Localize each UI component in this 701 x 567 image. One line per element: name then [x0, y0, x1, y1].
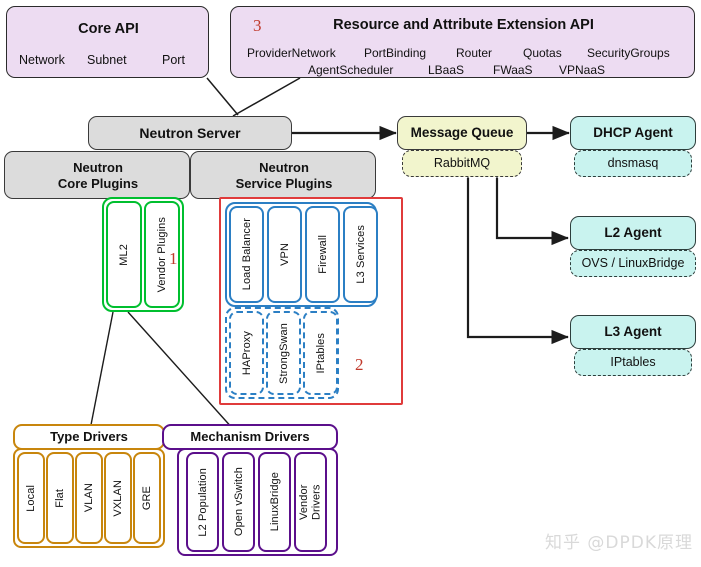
mechanism-driver-cell-l2-population: L2 Population	[186, 452, 219, 552]
type-drivers-header: Type Drivers	[13, 424, 165, 450]
plugin-label-vendor-plugins: Vendor Plugins	[156, 217, 168, 292]
service-cell-load-balancer: Load Balancer	[229, 206, 264, 303]
type-driver-cell-vxlan: VXLAN	[104, 452, 132, 544]
l2-agent-box: L2 Agent	[570, 216, 696, 250]
extension-item-lbaas: LBaaS	[428, 64, 464, 78]
core-api-title: Core API	[7, 21, 210, 38]
type-driver-cell-gre: GRE	[133, 452, 161, 544]
mechanism-drivers-title: Mechanism Drivers	[190, 430, 309, 445]
core-api-box: Core API Network Subnet Port	[6, 6, 209, 78]
core-plugins-badge: 1	[169, 249, 178, 269]
service-plugins-title-line2: Service Plugins	[236, 176, 333, 191]
service-label-firewall: Firewall	[317, 235, 329, 274]
core-api-resource-network: Network	[19, 53, 65, 67]
service-plugins-badge: 2	[355, 355, 364, 375]
service-plugins-title: Neutron Service Plugins	[191, 160, 377, 193]
extension-item-securitygroups: SecurityGroups	[587, 47, 670, 61]
neutron-server-box: Neutron Server	[88, 116, 292, 150]
type-driver-cell-vlan: VLAN	[75, 452, 103, 544]
core-plugins-title-line2: Core Plugins	[58, 176, 138, 191]
watermark: 知乎 @DPDK原理	[545, 528, 693, 553]
mechanism-driver-label-open-vswitch: Open vSwitch	[233, 467, 245, 536]
l2-agent-impl-box: OVS / LinuxBridge	[570, 250, 696, 277]
backend-cell-haproxy: HAProxy	[229, 311, 264, 395]
service-cell-firewall: Firewall	[305, 206, 340, 303]
type-driver-label-vxlan: VXLAN	[112, 480, 124, 517]
backend-label-iptables: IPtables	[315, 333, 327, 374]
type-driver-cell-flat: Flat	[46, 452, 74, 544]
service-label-load-balancer: Load Balancer	[241, 218, 253, 290]
l2-agent-title: L2 Agent	[604, 225, 661, 241]
type-driver-cell-local: Local	[17, 452, 45, 544]
dhcp-agent-box: DHCP Agent	[570, 116, 696, 150]
l3-agent-impl-box: IPtables	[574, 349, 692, 376]
service-plugins-title-line1: Neutron	[259, 160, 309, 175]
backend-label-haproxy: HAProxy	[241, 331, 253, 375]
backend-cell-iptables: IPtables	[303, 311, 338, 395]
extension-item-vpnaas: VPNaaS	[559, 64, 605, 78]
type-driver-label-vlan: VLAN	[83, 483, 95, 512]
mechanism-driver-cell-open-vswitch: Open vSwitch	[222, 452, 255, 552]
neutron-core-plugins-box: Neutron Core Plugins	[4, 151, 190, 199]
l2-agent-impl-label: OVS / LinuxBridge	[582, 256, 685, 270]
extension-item-fwaas: FWaaS	[493, 64, 533, 78]
message-queue-title: Message Queue	[411, 125, 514, 141]
neutron-service-plugins-box: Neutron Service Plugins	[190, 151, 376, 199]
mechanism-driver-label-linuxbridge: LinuxBridge	[269, 472, 281, 531]
message-queue-impl-label: RabbitMQ	[434, 156, 490, 170]
mechanism-drivers-header: Mechanism Drivers	[162, 424, 338, 450]
service-cell-vpn: VPN	[267, 206, 302, 303]
message-queue-box: Message Queue	[397, 116, 527, 150]
l3-agent-title: L3 Agent	[604, 324, 661, 340]
core-plugins-title: Neutron Core Plugins	[5, 160, 191, 193]
backend-label-strongswan: StrongSwan	[278, 323, 290, 384]
type-drivers-title: Type Drivers	[50, 430, 128, 445]
plugin-label-ml2: ML2	[118, 244, 130, 266]
dhcp-agent-title: DHCP Agent	[593, 125, 673, 141]
service-label-vpn: VPN	[279, 243, 291, 266]
diagram-canvas: Core API Network Subnet Port 3 Resource …	[0, 0, 701, 567]
message-queue-impl-box: RabbitMQ	[402, 150, 522, 177]
service-cell-l3-services: L3 Services	[343, 206, 378, 303]
core-api-resource-subnet: Subnet	[87, 53, 127, 67]
extension-api-box: 3 Resource and Attribute Extension API P…	[230, 6, 695, 78]
service-label-l3-services: L3 Services	[355, 225, 367, 284]
mechanism-driver-label-l2-population: L2 Population	[197, 468, 209, 537]
backend-cell-strongswan: StrongSwan	[266, 311, 301, 395]
extension-item-router: Router	[456, 47, 492, 61]
l3-agent-impl-label: IPtables	[610, 355, 655, 369]
extension-item-providernetwork: ProviderNetwork	[247, 47, 336, 61]
type-driver-label-flat: Flat	[54, 489, 66, 508]
plugin-cell-ml2: ML2	[106, 201, 142, 308]
type-driver-label-local: Local	[25, 485, 37, 512]
neutron-server-title: Neutron Server	[139, 125, 240, 141]
core-api-resource-port: Port	[162, 53, 185, 67]
dhcp-agent-impl-box: dnsmasq	[574, 150, 692, 177]
mechanism-driver-cell-linuxbridge: LinuxBridge	[258, 452, 291, 552]
dhcp-agent-impl-label: dnsmasq	[608, 156, 659, 170]
type-driver-label-gre: GRE	[141, 486, 153, 510]
l3-agent-box: L3 Agent	[570, 315, 696, 349]
extension-item-portbinding: PortBinding	[364, 47, 426, 61]
extension-item-agentscheduler: AgentScheduler	[308, 64, 393, 78]
core-plugins-title-line1: Neutron	[73, 160, 123, 175]
mechanism-driver-cell-vendor-drivers: Vendor Drivers	[294, 452, 327, 552]
mechanism-driver-label-vendor-drivers: Vendor Drivers	[298, 466, 323, 538]
extension-api-title: Resource and Attribute Extension API	[231, 17, 696, 34]
extension-item-quotas: Quotas	[523, 47, 562, 61]
